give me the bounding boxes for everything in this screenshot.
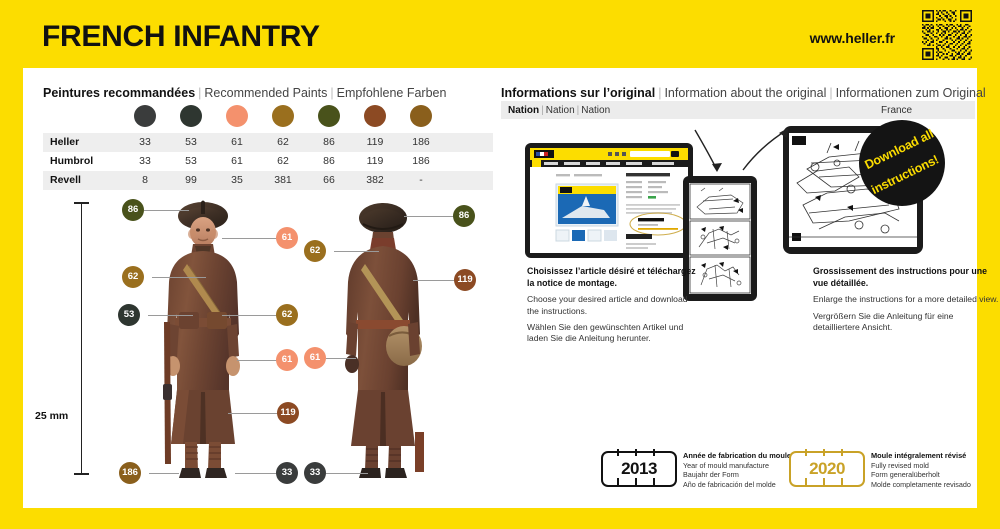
paint-code-cell: 119 [353, 155, 397, 167]
leader-line [222, 238, 277, 239]
page-title: FRENCH INFANTRY [42, 20, 320, 54]
paint-brand-label: Revell [50, 174, 81, 186]
chip-tick [841, 478, 843, 485]
callout-back-62[interactable]: 62 [304, 240, 326, 262]
callout-front-186-rifle[interactable]: 186 [119, 462, 141, 484]
chip-tick [617, 478, 619, 485]
tablet-device-mockup[interactable] [525, 143, 693, 258]
mould-revised-es: Molde completamente revisado [871, 480, 971, 490]
chip-tick [653, 449, 655, 456]
paint-code-cell: 61 [215, 155, 259, 167]
original-heading-de: Informationen zum Original [836, 86, 986, 100]
chip-tick [805, 478, 807, 485]
leader-line [235, 473, 277, 474]
original-heading-en: Information about the original [664, 86, 826, 100]
callout-front-62-strap[interactable]: 62 [122, 266, 144, 288]
paint-swatch-row [43, 103, 493, 133]
paint-swatch-5 [318, 105, 340, 127]
chip-tick [805, 449, 807, 456]
callout-back-33-boots[interactable]: 33 [304, 462, 326, 484]
website-url: www.heller.fr [810, 30, 895, 46]
left-caption-de: Wählen Sie den gewünschten Artikel und l… [527, 322, 697, 345]
callout-back-119[interactable]: 119 [454, 269, 476, 291]
callout-front-33-boots[interactable]: 33 [276, 462, 298, 484]
chip-tick [635, 478, 637, 485]
left-caption-en: Choose your desired article and download… [527, 294, 697, 317]
nation-row-label: Nation|Nation|Nation [508, 105, 610, 116]
paint-code-cell: 33 [123, 155, 167, 167]
mould-year-chip: 2013 [601, 451, 677, 487]
leader-line [144, 210, 189, 211]
chip-tick [841, 449, 843, 456]
original-heading-fr: Informations sur l’original [501, 86, 655, 100]
recommended-paints-heading: Peintures recommandées|Recommended Paint… [43, 86, 446, 100]
leader-line [148, 315, 193, 316]
nation-sep-1: | [539, 105, 546, 116]
callout-front-86[interactable]: 86 [122, 199, 144, 221]
header-bar: FRENCH INFANTRY www.heller.fr [0, 0, 1000, 68]
original-info-zone: Informations sur l’original|Information … [501, 68, 977, 508]
paint-code-cell: 86 [307, 136, 351, 148]
scale-label: 25 mm [35, 410, 68, 422]
paint-code-cell: 86 [307, 155, 351, 167]
paint-code-cell: 381 [261, 174, 305, 186]
leader-line [334, 251, 379, 252]
figure-zone: 25 mm [23, 188, 493, 506]
callout-back-86[interactable]: 86 [453, 205, 475, 227]
paint-code-cell: 53 [169, 136, 213, 148]
right-caption-fr: Grossissement des instructions pour une … [813, 266, 999, 289]
mould-revised-de: Form generalüberholt [871, 470, 971, 480]
paint-code-cell: 186 [399, 136, 443, 148]
right-caption-en: Enlarge the instructions for a more deta… [813, 294, 999, 305]
paint-swatch-7 [410, 105, 432, 127]
paints-heading-de: Empfohlene Farben [337, 86, 447, 100]
paint-code-cell: 33 [123, 136, 167, 148]
mould-manufacture-de: Baujahr der Form [683, 470, 791, 480]
nation-label-de: Nation [581, 105, 610, 116]
instruction-sheet: FRENCH INFANTRY www.heller.fr [0, 0, 1000, 529]
paint-code-cell: - [399, 174, 443, 186]
paint-row-heller: Heller3353616286119186 [43, 133, 493, 152]
scale-bar-cap-bottom [74, 473, 89, 475]
callout-front-62-pouch[interactable]: 62 [276, 304, 298, 326]
qr-code-icon[interactable] [922, 10, 972, 60]
left-caption-fr: Choisissez l’article désiré et télécharg… [527, 266, 697, 289]
callout-front-53-pouch[interactable]: 53 [118, 304, 140, 326]
french-infantry-back-view [323, 194, 443, 484]
leader-line [326, 473, 368, 474]
content-panel: Peintures recommandées|Recommended Paint… [23, 68, 977, 508]
paint-swatch-3 [226, 105, 248, 127]
paint-code-cell: 62 [261, 155, 305, 167]
leader-line [326, 358, 356, 359]
mould-revised-fr: Moule intégralement révisé [871, 451, 971, 461]
mould-manufacture-es: Año de fabricación del molde [683, 480, 791, 490]
paint-swatch-6 [364, 105, 386, 127]
paint-code-cell: 8 [123, 174, 167, 186]
callout-front-119-coat[interactable]: 119 [277, 402, 299, 424]
callout-front-61-face[interactable]: 61 [276, 227, 298, 249]
chip-tick [617, 449, 619, 456]
right-caption-de: Vergrößern Sie die Anleitung für eine de… [813, 311, 999, 334]
chip-tick [823, 449, 825, 456]
chip-tick [823, 478, 825, 485]
download-right-caption: Grossissement des instructions pour une … [813, 266, 999, 338]
leader-line [228, 413, 278, 414]
nation-value: France [881, 105, 912, 116]
paint-brand-label: Humbrol [50, 155, 93, 167]
paint-code-cell: 66 [307, 174, 351, 186]
leader-line [149, 473, 179, 474]
download-all-instructions-badge[interactable]: Download all instructions! [859, 120, 945, 206]
paint-code-cell: 382 [353, 174, 397, 186]
paints-heading-en: Recommended Paints [204, 86, 327, 100]
paint-table: Heller3353616286119186Humbrol33536162861… [43, 103, 493, 190]
callout-front-61-hand[interactable]: 61 [276, 349, 298, 371]
mould-manufacture-text: Année de fabrication du moule Year of mo… [683, 451, 791, 490]
callout-back-61-hand[interactable]: 61 [304, 347, 326, 369]
paint-brand-label: Heller [50, 136, 79, 148]
mould-manufacture-fr: Année de fabrication du moule [683, 451, 791, 461]
paints-heading-sep-2: | [327, 86, 336, 100]
mould-revised-en: Fully revised mold [871, 461, 971, 471]
paint-code-cell: 119 [353, 136, 397, 148]
leader-line [222, 315, 277, 316]
leader-line [404, 216, 454, 217]
leader-line [152, 277, 206, 278]
paint-swatch-1 [134, 105, 156, 127]
nation-label-en: Nation [546, 105, 575, 116]
scale-bar [81, 202, 82, 474]
paint-row-humbrol: Humbrol3353616286119186 [43, 152, 493, 171]
original-heading-sep-2: | [826, 86, 835, 100]
paint-code-cell: 35 [215, 174, 259, 186]
chip-tick [635, 449, 637, 456]
scale-bar-cap-top [74, 202, 89, 204]
original-info-heading: Informations sur l’original|Information … [501, 86, 986, 100]
download-left-caption: Choisissez l’article désiré et télécharg… [527, 266, 697, 350]
paint-code-cell: 61 [215, 136, 259, 148]
mould-revised-text: Moule intégralement révisé Fully revised… [871, 451, 971, 490]
paint-table-rows: Heller3353616286119186Humbrol33536162861… [43, 133, 493, 190]
paint-swatch-2 [180, 105, 202, 127]
paint-swatch-4 [272, 105, 294, 127]
paint-code-cell: 186 [399, 155, 443, 167]
paint-code-cell: 62 [261, 136, 305, 148]
paint-code-cell: 53 [169, 155, 213, 167]
mould-manufacture-en: Year of mould manufacture [683, 461, 791, 471]
leader-line [237, 360, 277, 361]
paint-code-cell: 99 [169, 174, 213, 186]
leader-line [413, 280, 455, 281]
flow-arrows [691, 126, 801, 178]
mould-revised-year-chip: 2020 [789, 451, 865, 487]
nation-label-fr: Nation [508, 105, 539, 116]
chip-tick [653, 478, 655, 485]
paints-heading-fr: Peintures recommandées [43, 86, 195, 100]
nation-row: Nation|Nation|Nation France [501, 101, 975, 119]
